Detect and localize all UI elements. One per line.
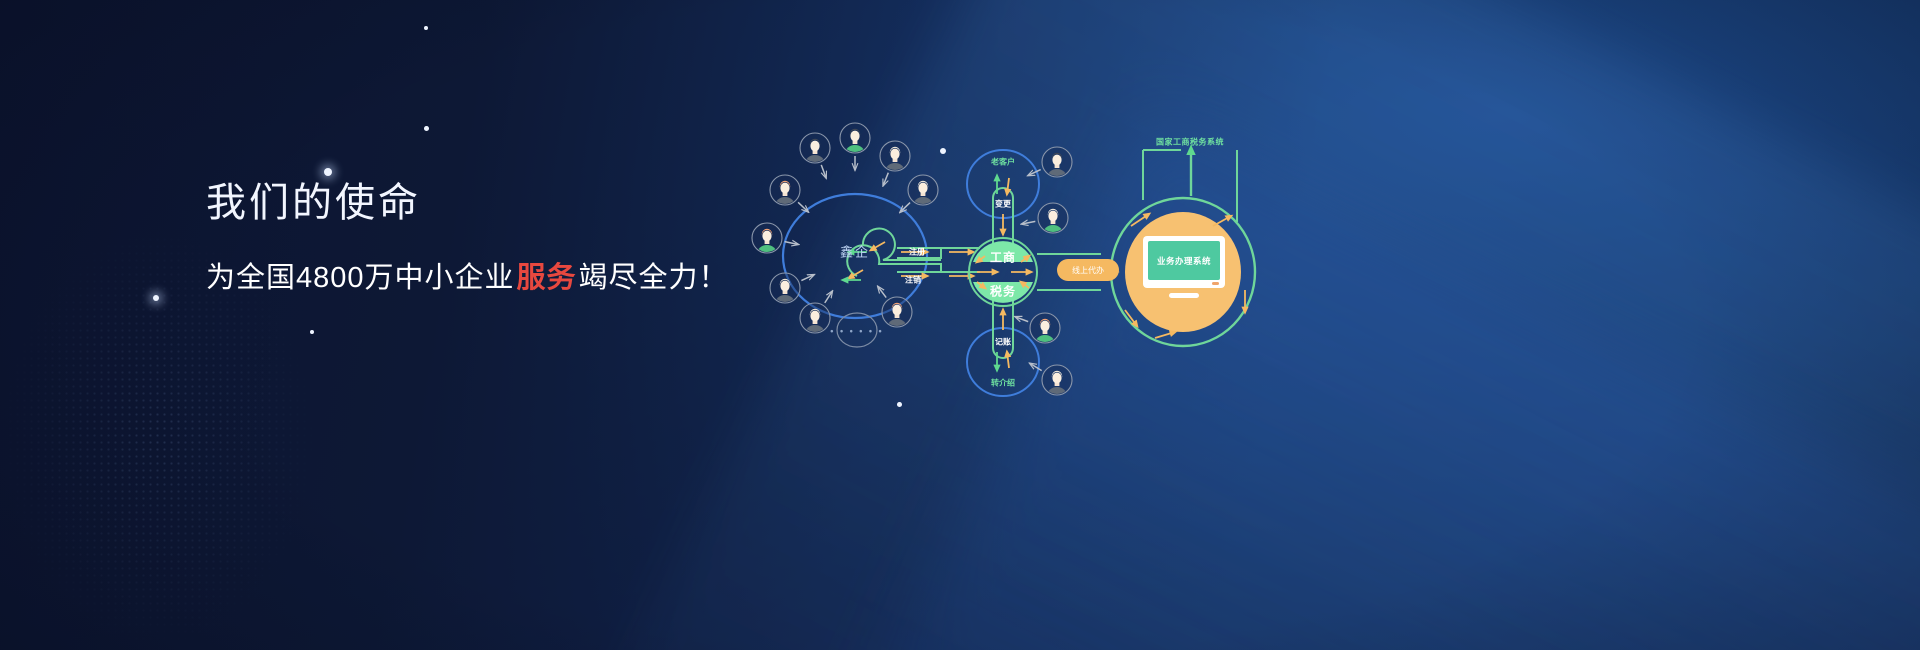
customer-connector-arrow	[785, 242, 798, 245]
service-flow-diagram: 鑫企 注册 注销 老客户 变更 记账 转介绍 工商 税务 国家工商税务系统 业务…	[745, 130, 1265, 420]
diagram-canvas	[745, 130, 1265, 420]
arrow-ring-ul	[1131, 214, 1149, 226]
customer-avatar-icon	[1030, 313, 1060, 344]
customer-avatar-icon	[800, 303, 830, 334]
subtitle-highlight: 服务	[515, 262, 579, 294]
monitor-screen	[1148, 241, 1220, 280]
old-customer-ring	[967, 150, 1039, 218]
online-agency-label: 线上代办	[1072, 265, 1104, 276]
customer-avatar-icon	[882, 297, 912, 328]
customer-connector-arrow	[901, 203, 910, 212]
customer-connector-arrow	[1016, 317, 1028, 322]
sparkle-dot	[153, 295, 159, 301]
customer-connector-arrow	[801, 275, 813, 280]
customer-avatar-icon	[908, 175, 938, 206]
customer-connector-arrow	[1023, 221, 1036, 223]
arrow-ring-lb	[1155, 332, 1175, 338]
arrow-referral-up	[1007, 352, 1009, 368]
customer-connector-arrow	[883, 173, 888, 185]
arrow-change-down	[1007, 178, 1009, 194]
monitor-indicator	[1212, 282, 1219, 285]
customer-connector-arrow	[1029, 170, 1041, 175]
customer-connector-arrow	[825, 292, 832, 303]
arrow-register-back	[871, 242, 885, 250]
monitor-stand	[1169, 293, 1199, 298]
rail-upper	[897, 248, 941, 258]
customer-avatar-icon	[880, 141, 910, 172]
customer-avatar-icon	[752, 223, 782, 254]
rail-lower	[897, 264, 941, 272]
hero-banner: 我们的使命 为全国4800万中小企业服务竭尽全力！	[0, 0, 1920, 650]
customer-avatar-icon	[1038, 203, 1068, 234]
customer-connector-arrow	[1031, 364, 1042, 371]
customer-avatar-icon	[770, 175, 800, 206]
customer-avatar-icon	[1042, 365, 1072, 396]
sparkle-dot	[424, 126, 429, 131]
online-agency-pill: 线上代办	[1057, 259, 1119, 281]
customer-connector-arrow	[798, 202, 807, 211]
subtitle-text-after: 竭尽全力！	[579, 262, 729, 294]
customer-connector-arrow	[878, 287, 886, 297]
subtitle-text-before: 为全国4800万中小企业	[206, 262, 515, 294]
arrow-ring-ur	[1213, 216, 1231, 226]
customer-avatar-icon	[840, 123, 870, 154]
customer-avatar-icon	[800, 133, 830, 164]
customer-avatar-icon	[1042, 147, 1072, 178]
customer-connector-arrow	[821, 165, 826, 177]
register-loop	[863, 229, 941, 260]
customer-avatar-icon	[770, 273, 800, 304]
sparkle-dot	[424, 26, 428, 30]
referral-ring	[967, 328, 1039, 396]
